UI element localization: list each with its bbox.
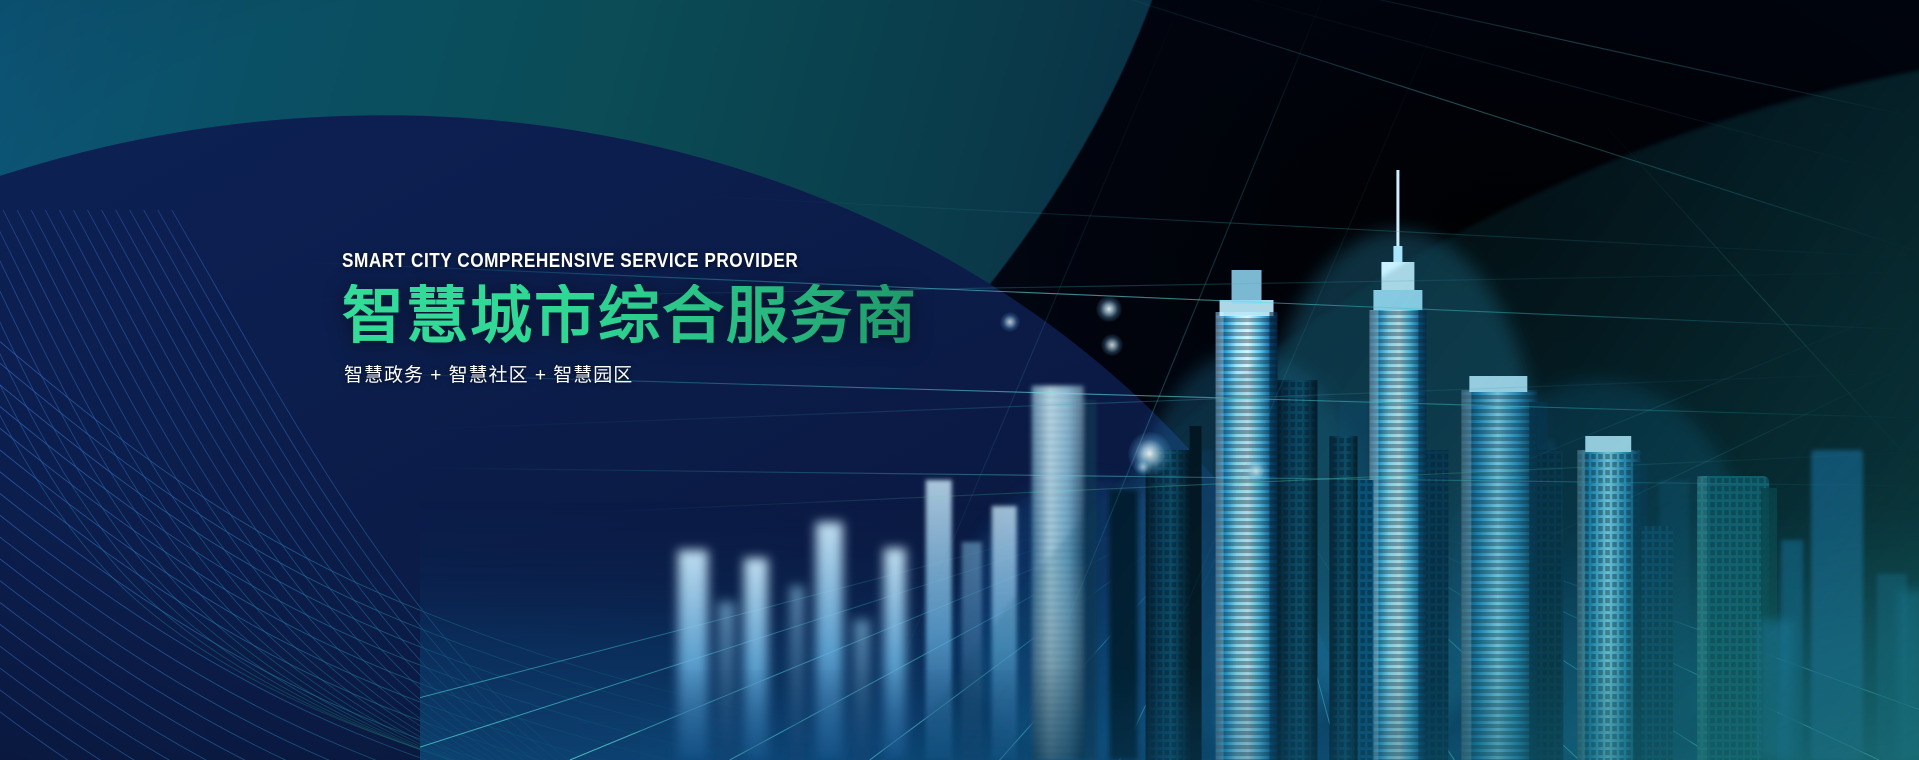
vignette-overlay: [0, 0, 1919, 760]
smart-city-hero-banner: SMART CITY COMPREHENSIVE SERVICE PROVIDE…: [0, 0, 1919, 760]
